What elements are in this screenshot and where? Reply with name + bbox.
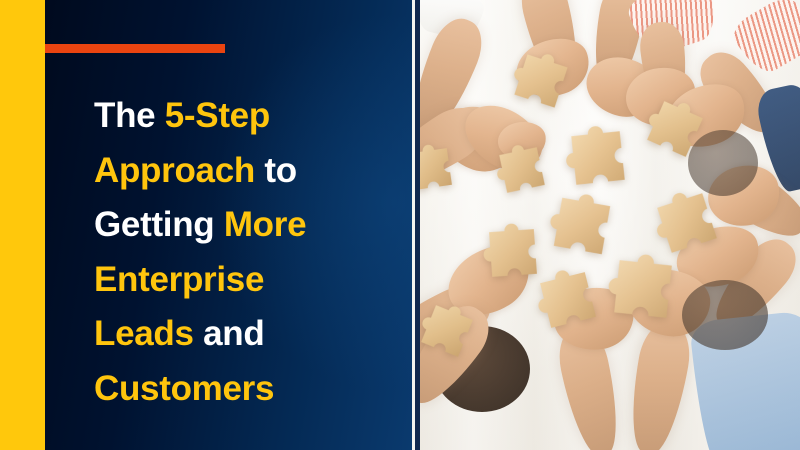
banner-headline: The 5-Step Approach to Getting More Ente… xyxy=(94,89,404,416)
left-yellow-accent-bar xyxy=(0,0,45,450)
headline-line-2: Approach to xyxy=(94,144,404,199)
headline-line-4: Enterprise xyxy=(94,253,404,308)
headline-word-approach: Approach xyxy=(94,151,264,190)
orange-accent-rule xyxy=(45,44,225,53)
headline-word-more: More xyxy=(224,205,306,244)
headline-word-and: and xyxy=(203,314,264,353)
head-bottom-right xyxy=(682,280,768,350)
headline-word-5-step: 5-Step xyxy=(165,96,270,135)
headline-line-5: Leads and xyxy=(94,307,404,362)
headline-word-getting: Getting xyxy=(94,205,224,244)
puzzle-piece-9 xyxy=(598,244,688,334)
headline-word-the: The xyxy=(94,96,165,135)
headline-word-customers: Customers xyxy=(94,369,274,408)
headline-line-6: Customers xyxy=(94,362,404,417)
headline-line-3: Getting More xyxy=(94,198,404,253)
puzzle-piece-2 xyxy=(486,134,557,205)
headline-word-enterprise: Enterprise xyxy=(94,260,264,299)
headline-word-leads: Leads xyxy=(94,314,203,353)
article-header-banner: The 5-Step Approach to Getting More Ente… xyxy=(0,0,800,450)
panel-divider-line xyxy=(415,0,420,450)
hero-photo-teamwork-puzzle xyxy=(420,0,800,450)
headline-word-to: to xyxy=(264,151,296,190)
puzzle-piece-11 xyxy=(420,136,464,202)
headline-line-1: The 5-Step xyxy=(94,89,404,144)
